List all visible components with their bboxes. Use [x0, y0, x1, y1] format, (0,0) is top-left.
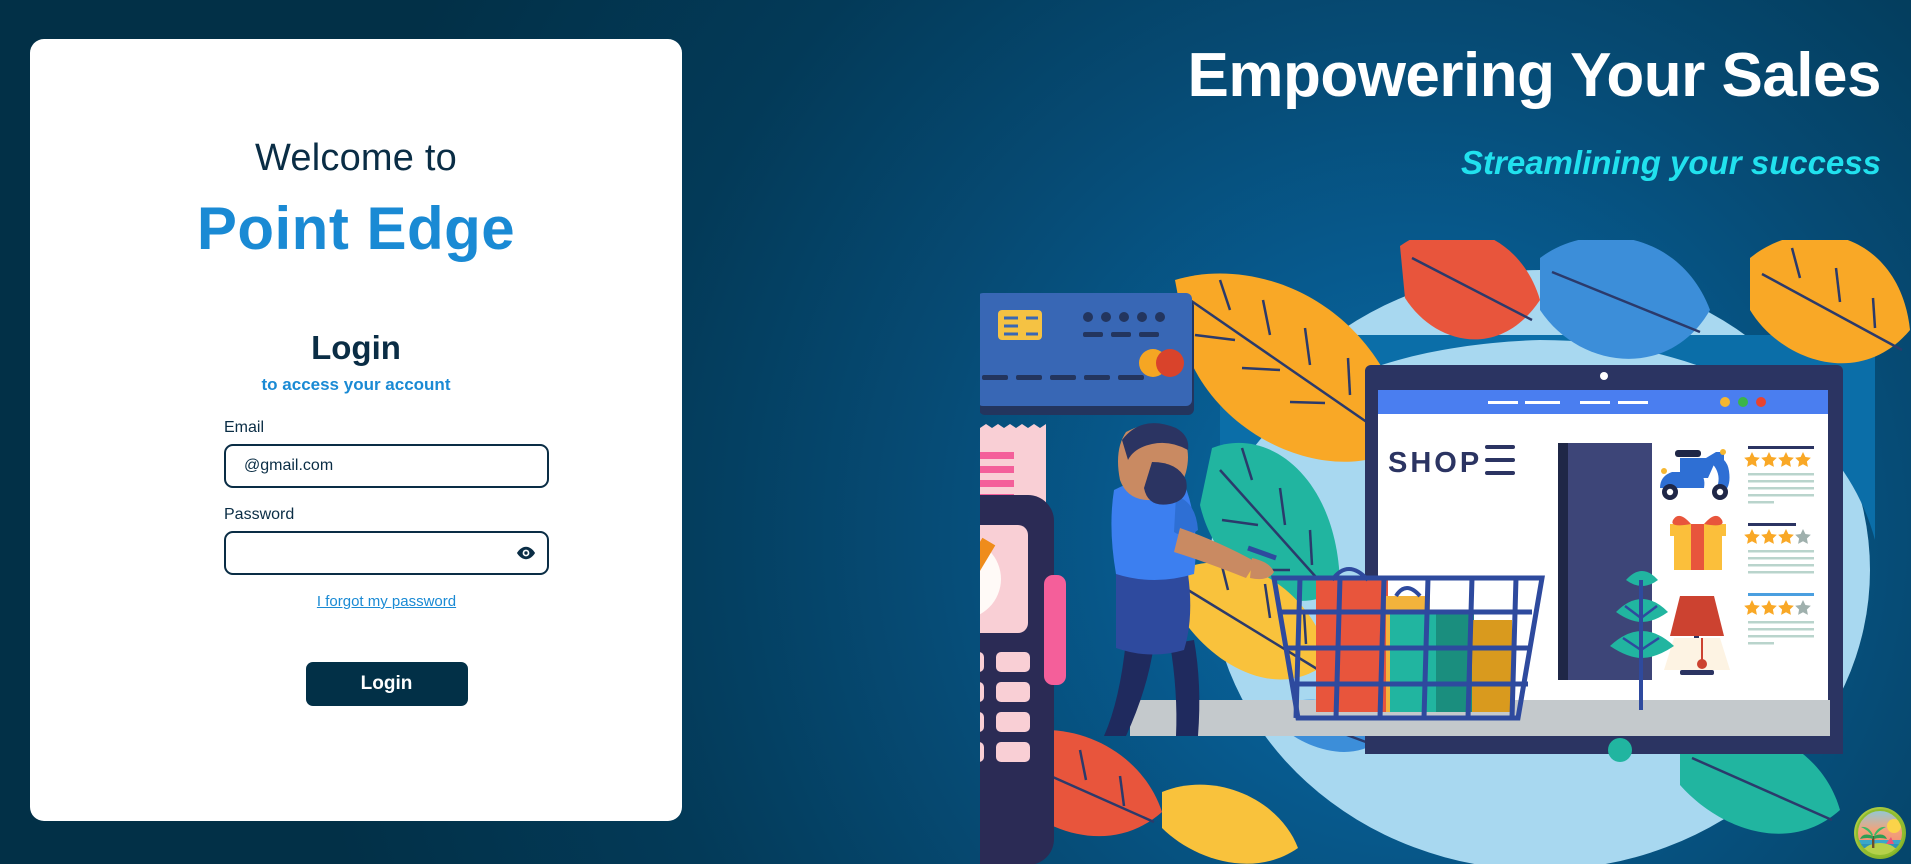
email-label: Email — [224, 419, 549, 437]
login-heading: Login — [30, 329, 682, 367]
brand-name: Point Edge — [30, 194, 682, 263]
eye-icon[interactable] — [515, 542, 537, 564]
card-reader-checkmark-icon — [980, 424, 1066, 864]
hero-subtitle: Streamlining your success — [1461, 144, 1881, 182]
forgot-password-link[interactable]: I forgot my password — [224, 593, 549, 610]
login-card-header: Welcome to Point Edge Login to access yo… — [30, 39, 682, 395]
hero-title: Empowering Your Sales — [1187, 40, 1881, 111]
shop-label: SHOP — [1388, 447, 1482, 479]
ecommerce-shopping-illustration: SHOP — [980, 240, 1911, 864]
password-label: Password — [224, 506, 549, 524]
browser-dot-yellow — [1720, 397, 1730, 407]
password-field-wrap — [224, 531, 549, 575]
login-button[interactable]: Login — [306, 662, 468, 706]
email-input[interactable] — [224, 444, 549, 488]
credit-card-icon — [980, 293, 1194, 415]
login-subtitle: to access your account — [30, 375, 682, 395]
island-sunset-badge-icon[interactable] — [1853, 806, 1907, 860]
browser-dot-green — [1738, 397, 1748, 407]
password-input[interactable] — [224, 531, 549, 575]
welcome-text: Welcome to — [30, 137, 682, 180]
login-card: Welcome to Point Edge Login to access yo… — [30, 39, 682, 821]
email-field-wrap — [224, 444, 549, 488]
login-form: Email Password I forgot my password Logi… — [224, 419, 549, 706]
browser-dot-red — [1756, 397, 1766, 407]
